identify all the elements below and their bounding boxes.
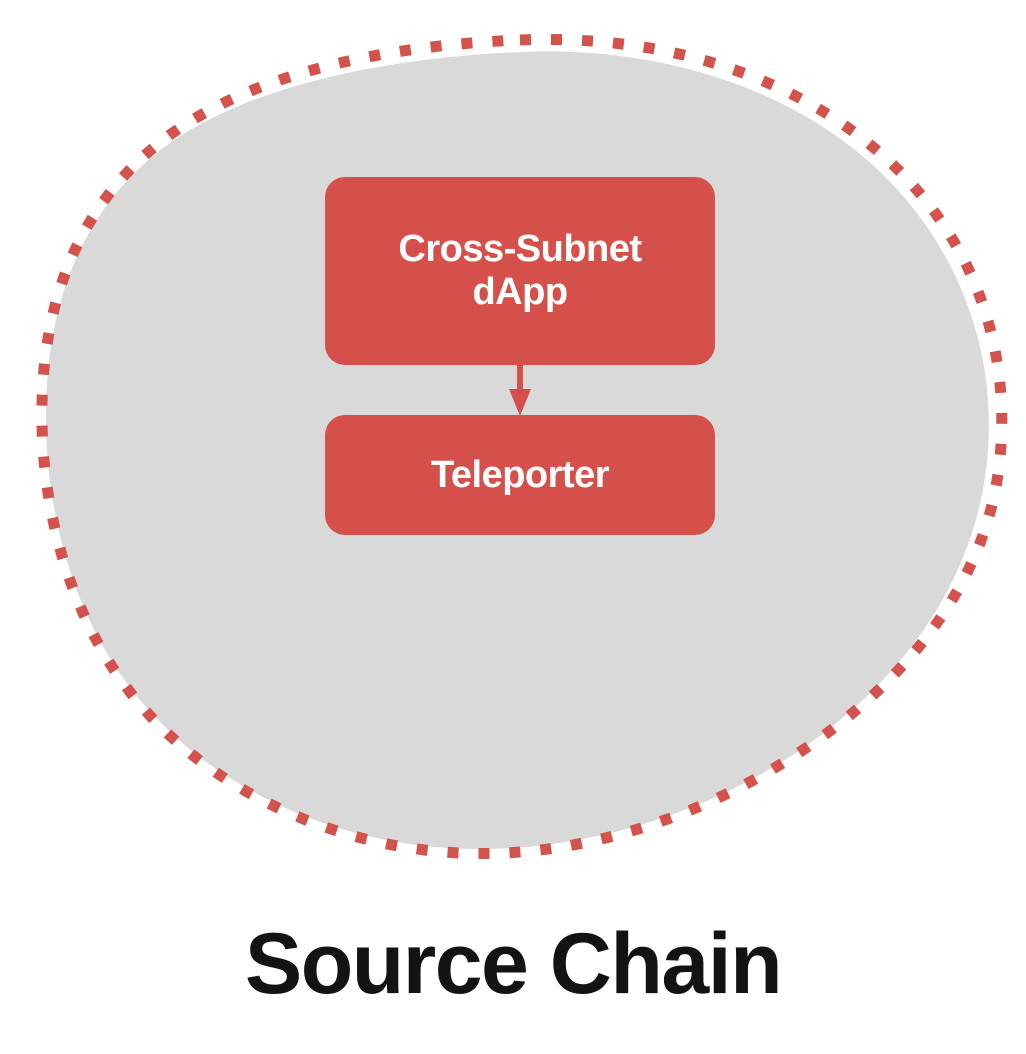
node-cross-subnet-dapp[interactable]: Cross-Subnet dApp [325,177,715,365]
source-chain-caption: Source Chain [0,917,1026,1012]
diagram-canvas: Cross-Subnet dApp Teleporter Source Chai… [0,0,1026,1054]
node-cross-subnet-dapp-label: Cross-Subnet dApp [325,228,715,313]
node-teleporter-label: Teleporter [325,454,715,497]
node-teleporter[interactable]: Teleporter [325,415,715,535]
arrow-head-icon [509,389,531,416]
